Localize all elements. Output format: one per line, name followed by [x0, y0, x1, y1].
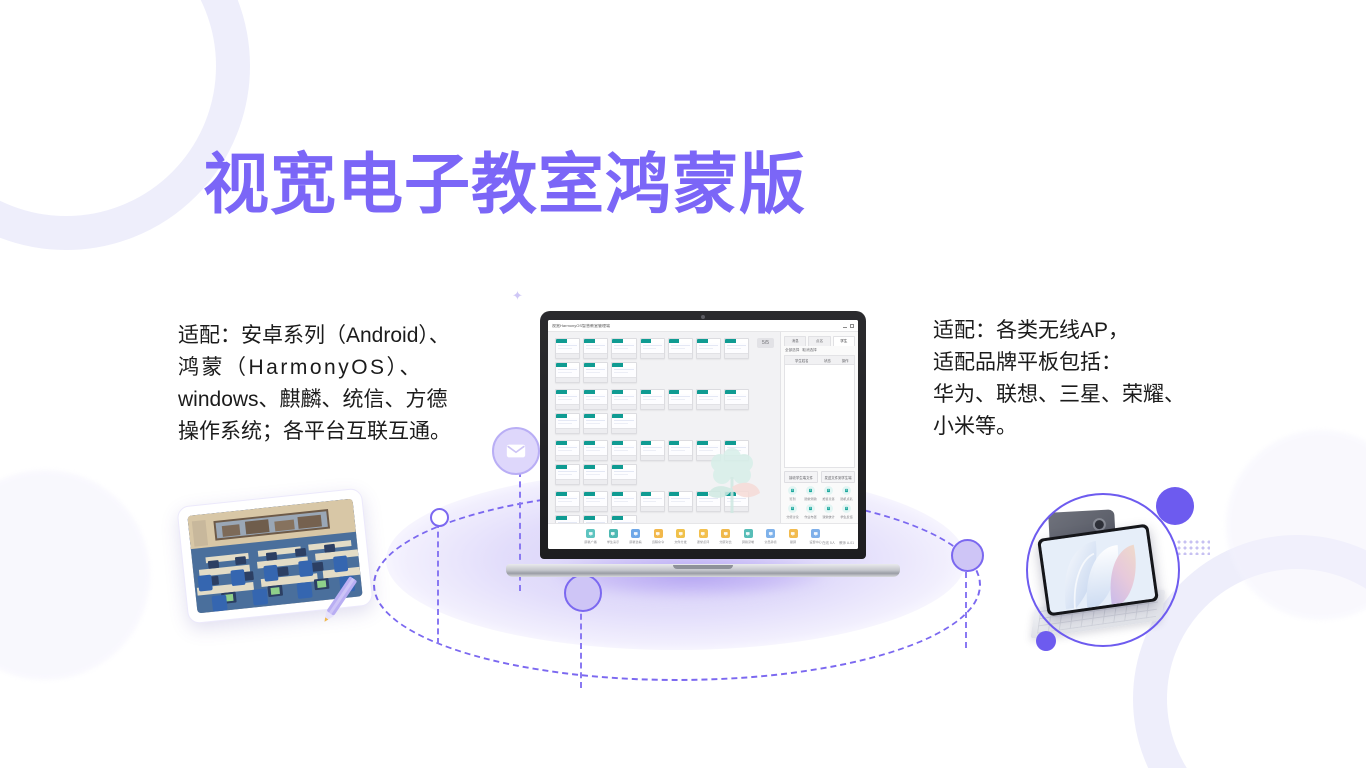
status-online: 在线 5人	[822, 540, 835, 545]
decor-dot-large	[1156, 487, 1194, 525]
student-thumbnail[interactable]	[555, 413, 580, 434]
decor-sparkle-top: ✦	[512, 288, 523, 304]
tool-bubble	[824, 486, 833, 495]
thumbnail-preview	[669, 394, 692, 404]
side-panel-subcontrol-0[interactable]: 全部选择	[785, 348, 799, 353]
thumbnail-caption	[697, 353, 720, 358]
toolbar-label: 全员静音	[764, 539, 776, 544]
thumbnail-preview	[612, 469, 635, 479]
side-panel-tab-0[interactable]: 消息	[784, 336, 806, 346]
student-thumbnail[interactable]	[640, 440, 665, 461]
broadcast-icon	[588, 531, 594, 537]
thumbnail-preview	[669, 445, 692, 455]
thumbnail-preview	[556, 367, 579, 377]
thumbnail-preview	[725, 343, 748, 353]
thumbnail-caption	[556, 455, 579, 460]
toolbar-icon-wrap	[676, 529, 685, 538]
toolbar-icon-wrap	[699, 529, 708, 538]
thumbnail-caption	[641, 404, 664, 409]
student-thumbnail[interactable]	[640, 389, 665, 410]
student-thumbnail[interactable]	[583, 515, 608, 523]
toolbar-label: 屏幕监看	[629, 539, 641, 544]
student-thumbnail[interactable]	[611, 440, 636, 461]
side-panel-subcontrol-1[interactable]: 取消选择	[802, 348, 816, 353]
file-transfer-button-1[interactable]: 发送文件到学生端	[821, 471, 855, 483]
thumbnail-preview	[556, 394, 579, 404]
record-icon	[745, 531, 751, 537]
split-icon	[723, 531, 729, 537]
student-thumbnail[interactable]	[583, 440, 608, 461]
thumbnail-caption	[669, 455, 692, 460]
thumbnail-preview	[641, 496, 664, 506]
tool-label: 抢答竞答	[822, 496, 834, 501]
status-teacher: 教师 A-01	[839, 540, 854, 545]
thumbnail-preview	[584, 367, 607, 377]
toolbar-icon-wrap	[721, 529, 730, 538]
student-thumbnail[interactable]	[724, 338, 749, 359]
thumbnail-preview	[697, 394, 720, 404]
student-thumbnail[interactable]	[668, 491, 693, 512]
thumbnail-caption	[612, 479, 635, 484]
homework-icon	[808, 506, 813, 511]
student-thumbnail[interactable]	[555, 515, 580, 523]
toolbar-icon-wrap	[744, 529, 753, 538]
thumbnail-caption	[584, 377, 607, 382]
laptop-camera	[701, 315, 705, 319]
right-spec-line-3: 华为、联想、三星、荣耀、	[933, 379, 1185, 411]
thumbnail-caption	[556, 404, 579, 409]
toolbar-label: 屏幕广播	[584, 539, 596, 544]
connector-line-center-node	[580, 604, 582, 688]
toolbar-label: 远程命令	[652, 539, 664, 544]
comment-icon	[700, 531, 706, 537]
classroom-app: 视宽HarmonyOS智慧教室管理端 5/5	[548, 320, 858, 549]
thumbnail-caption	[612, 404, 635, 409]
student-thumbnail[interactable]	[668, 440, 693, 461]
student-thumbnail[interactable]	[611, 389, 636, 410]
thumbnail-preview	[612, 367, 635, 377]
thumbnail-preview	[612, 343, 635, 353]
tool-bubble	[824, 504, 833, 513]
app-body: 5/5	[548, 332, 858, 523]
tool-label: 随机点名	[840, 496, 852, 501]
laptop-lid: 视宽HarmonyOS智慧教室管理端 5/5	[540, 311, 866, 559]
toolbar-label: 分屏对比	[719, 539, 731, 544]
laptop-screen: 视宽HarmonyOS智慧教室管理端 5/5	[548, 320, 858, 549]
tool-bubble	[842, 486, 851, 495]
tool-bubble	[806, 504, 815, 513]
file-transfer-button-0[interactable]: 接收学生端文件	[784, 471, 818, 483]
thumbnail-caption	[669, 353, 692, 358]
app-side-panel: 消息点名学生 全部选择取消选择 学生姓名状态操作 接收学生端文件发送文件到学生端…	[780, 332, 858, 523]
left-spec-line-4: 操作系统；各平台互联互通。	[178, 416, 451, 448]
thumbnail-preview	[641, 343, 664, 353]
toolbar-item-lock[interactable]: 锁屏	[785, 529, 802, 544]
window-controls[interactable]	[843, 324, 854, 328]
thumbnail-caption	[612, 506, 635, 511]
thumbnail-caption	[641, 455, 664, 460]
thumbnail-caption	[641, 353, 664, 358]
table-column-header-0: 学生姓名	[785, 356, 819, 364]
connector-line-right-node	[965, 572, 967, 648]
thumbnail-caption	[556, 353, 579, 358]
app-titlebar: 视宽HarmonyOS智慧教室管理端	[548, 320, 858, 332]
command-icon	[655, 531, 661, 537]
student-thumbnail[interactable]	[555, 389, 580, 410]
minimize-icon[interactable]	[843, 327, 847, 328]
thumbnail-caption	[584, 428, 607, 433]
toolbar-item-present[interactable]: 学生演示	[605, 529, 622, 544]
thumbnail-preview	[584, 469, 607, 479]
lock-icon	[790, 531, 796, 537]
side-panel-subcontrols[interactable]: 全部选择取消选择	[784, 346, 855, 355]
random-icon	[844, 488, 849, 493]
toolbar-item-mute[interactable]: 全员静音	[762, 529, 779, 544]
thumbnail-caption	[556, 479, 579, 484]
toolbar-icon-wrap	[811, 529, 820, 538]
right-spec-text: 适配：各类无线AP， 适配品牌平板包括： 华为、联想、三星、荣耀、 小米等。	[933, 315, 1185, 443]
student-thumbnail[interactable]	[611, 338, 636, 359]
left-spec-text: 适配：安卓系列（Android）、 鸿蒙（HarmonyOS）、 windows…	[178, 320, 451, 448]
thumbnail-preview	[584, 394, 607, 404]
chart-icon	[826, 506, 831, 511]
decor-wash-left	[0, 470, 150, 680]
close-icon[interactable]	[850, 324, 854, 328]
thumbnail-preview	[556, 469, 579, 479]
laptop-base	[506, 564, 900, 577]
laptop-notch	[673, 565, 733, 569]
thumbnail-caption	[556, 506, 579, 511]
monitor-icon	[633, 531, 639, 537]
thumbnail-caption	[556, 377, 579, 382]
toolbar-label: 设置中心	[809, 539, 821, 544]
teaching-tools-grid[interactable]: 签到随堂测验抢答竞答随机点名分组讨论作业布置课堂统计学生反馈	[784, 486, 855, 519]
thumbnail-preview	[584, 445, 607, 455]
count-badge: 5/5	[757, 338, 774, 348]
orbit-node-right	[951, 539, 984, 572]
orbit-node-center	[564, 574, 602, 612]
side-panel-tabs[interactable]: 消息点名学生	[784, 336, 855, 346]
toolbar-icon-wrap	[586, 529, 595, 538]
teaching-tool-buzzer[interactable]: 抢答竞答	[820, 486, 837, 501]
student-thumbnail[interactable]	[696, 389, 721, 410]
tool-bubble	[806, 486, 815, 495]
thumbnail-preview	[556, 445, 579, 455]
tool-label: 随堂测验	[804, 496, 816, 501]
tool-label: 学生反馈	[840, 514, 852, 519]
thumbnail-preview	[612, 418, 635, 428]
thumbnail-caption	[641, 506, 664, 511]
toolbar-label: 屏幕录制	[742, 539, 754, 544]
student-thumbnail[interactable]	[696, 338, 721, 359]
tool-label: 签到	[789, 496, 795, 501]
toolbar-item-file-send[interactable]: 文件分发	[672, 529, 689, 544]
toolbar-icon-wrap	[789, 529, 798, 538]
teaching-tool-group[interactable]: 分组讨论	[784, 504, 801, 519]
student-thumbnail[interactable]	[555, 440, 580, 461]
left-spec-line-1: 适配：安卓系列（Android）、	[178, 320, 451, 352]
thumbnail-caption	[556, 428, 579, 433]
thumbnail-preview	[669, 496, 692, 506]
student-thumbnail[interactable]	[555, 338, 580, 359]
toolbar-icon-wrap	[766, 529, 775, 538]
table-column-header-1: 状态	[819, 356, 837, 364]
toolbar-label: 锁屏	[790, 539, 796, 544]
file-transfer-buttons[interactable]: 接收学生端文件发送文件到学生端	[784, 471, 855, 483]
side-panel-tab-2[interactable]: 学生	[833, 336, 855, 346]
teaching-tool-quiz[interactable]: 随堂测验	[802, 486, 819, 501]
toolbar-icon-wrap	[654, 529, 663, 538]
thumbnail-preview	[612, 394, 635, 404]
thumbnail-caption	[584, 353, 607, 358]
student-thumbnail[interactable]	[583, 491, 608, 512]
toolbar-label: 课堂点评	[697, 539, 709, 544]
thumbnail-preview	[612, 445, 635, 455]
toolbar-item-comment[interactable]: 课堂点评	[695, 529, 712, 544]
toolbar-item-broadcast[interactable]: 屏幕广播	[582, 529, 599, 544]
decor-ring	[1026, 493, 1180, 647]
flower-watermark-icon	[700, 443, 764, 515]
thumbnail-caption	[584, 455, 607, 460]
thumbnail-caption	[669, 404, 692, 409]
student-thumbnail[interactable]	[583, 464, 608, 485]
connector-line-left-node	[437, 522, 439, 644]
app-bottom-toolbar[interactable]: 屏幕广播学生演示屏幕监看远程命令文件分发课堂点评分屏对比屏幕录制全员静音锁屏设置…	[548, 523, 858, 549]
thumbnail-caption	[725, 404, 748, 409]
left-spec-line-2: 鸿蒙（HarmonyOS）、	[178, 352, 451, 384]
thumbnail-caption	[612, 428, 635, 433]
thumbnail-preview	[584, 343, 607, 353]
toolbar-item-split[interactable]: 分屏对比	[717, 529, 734, 544]
toolbar-item-record[interactable]: 屏幕录制	[740, 529, 757, 544]
student-thumbnail[interactable]	[640, 338, 665, 359]
thumbnail-preview	[641, 394, 664, 404]
side-panel-tab-1[interactable]: 点名	[808, 336, 830, 346]
thumbnail-caption	[697, 404, 720, 409]
file-send-icon	[678, 531, 684, 537]
toolbar-item-command[interactable]: 远程命令	[650, 529, 667, 544]
mute-icon	[768, 531, 774, 537]
tool-bubble	[842, 504, 851, 513]
check-icon	[790, 488, 795, 493]
thumbnail-preview	[556, 418, 579, 428]
left-spec-line-3: windows、麒麟、统信、方德	[178, 384, 451, 416]
toolbar-icon-wrap	[631, 529, 640, 538]
student-table-header: 学生姓名状态操作	[784, 355, 855, 365]
right-spec-line-2: 适配品牌平板包括：	[933, 347, 1185, 379]
student-thumbnail[interactable]	[583, 389, 608, 410]
thumbnail-caption	[584, 479, 607, 484]
thumbnail-preview	[725, 394, 748, 404]
decor-dot-small	[1036, 631, 1056, 651]
teaching-tool-random[interactable]: 随机点名	[838, 486, 855, 501]
feedback-icon	[844, 506, 849, 511]
app-window-title: 视宽HarmonyOS智慧教室管理端	[552, 323, 610, 328]
student-grid-pane: 5/5	[548, 332, 780, 523]
student-thumbnail[interactable]	[668, 338, 693, 359]
thumbnail-caption	[669, 506, 692, 511]
group-icon	[790, 506, 795, 511]
thumbnail-caption	[612, 353, 635, 358]
toolbar-icon-wrap	[609, 529, 618, 538]
toolbar-status: 在线 5人 教师 A-01	[822, 540, 854, 545]
thumbnail-caption	[584, 404, 607, 409]
thumbnail-preview	[584, 418, 607, 428]
table-column-header-2: 操作	[836, 356, 854, 364]
student-thumbnail[interactable]	[583, 338, 608, 359]
student-thumbnail[interactable]	[611, 413, 636, 434]
student-thumbnail[interactable]	[611, 491, 636, 512]
quiz-icon	[808, 488, 813, 493]
teaching-tool-check[interactable]: 签到	[784, 486, 801, 501]
student-thumbnail[interactable]	[640, 491, 665, 512]
thumbnail-preview	[669, 343, 692, 353]
thumbnail-caption	[725, 353, 748, 358]
settings-icon	[813, 531, 819, 537]
laptop-mockup: 视宽HarmonyOS智慧教室管理端 5/5	[506, 311, 900, 577]
thumbnail-caption	[612, 455, 635, 460]
toolbar-items[interactable]: 屏幕广播学生演示屏幕监看远程命令文件分发课堂点评分屏对比屏幕录制全员静音锁屏设置…	[582, 529, 824, 544]
student-thumbnail[interactable]	[668, 389, 693, 410]
tool-label: 作业布置	[804, 514, 816, 519]
thumbnail-preview	[584, 496, 607, 506]
tablet-mockup-group	[1012, 487, 1208, 655]
thumbnail-preview	[641, 445, 664, 455]
toolbar-item-monitor[interactable]: 屏幕监看	[627, 529, 644, 544]
student-thumbnail[interactable]	[611, 515, 636, 523]
thumbnail-preview	[697, 343, 720, 353]
right-spec-line-1: 适配：各类无线AP，	[933, 315, 1185, 347]
right-spec-line-4: 小米等。	[933, 411, 1185, 443]
thumbnail-caption	[612, 377, 635, 382]
decor-dot-grid	[1176, 539, 1210, 555]
student-thumbnail[interactable]	[555, 362, 580, 383]
student-thumbnail[interactable]	[724, 389, 749, 410]
teaching-tool-chart[interactable]: 课堂统计	[820, 504, 837, 519]
teaching-tool-homework[interactable]: 作业布置	[802, 504, 819, 519]
toolbar-label: 学生演示	[607, 539, 619, 544]
orbit-node-left	[430, 508, 449, 527]
toolbar-label: 文件分发	[674, 539, 686, 544]
present-icon	[610, 531, 616, 537]
thumbnail-preview	[612, 496, 635, 506]
tool-bubble	[788, 486, 797, 495]
thumbnail-caption	[584, 506, 607, 511]
thumbnail-preview	[556, 343, 579, 353]
thumbnail-preview	[556, 496, 579, 506]
tool-label: 分组讨论	[786, 514, 798, 519]
teaching-tool-feedback[interactable]: 学生反馈	[838, 504, 855, 519]
page-title: 视宽电子教室鸿蒙版	[203, 152, 806, 218]
student-table-body[interactable]	[784, 365, 855, 468]
student-thumbnail[interactable]	[611, 362, 636, 383]
student-thumbnail[interactable]	[555, 491, 580, 512]
student-thumbnail[interactable]	[583, 413, 608, 434]
slide-canvas: ✦ ✦ 视宽电子教室鸿蒙版 适配：安卓系列（Android）、 鸿蒙（Harmo…	[0, 0, 1366, 768]
student-thumbnail[interactable]	[583, 362, 608, 383]
buzzer-icon	[826, 488, 831, 493]
tool-label: 课堂统计	[822, 514, 834, 519]
student-thumbnail[interactable]	[611, 464, 636, 485]
tool-bubble	[788, 504, 797, 513]
student-thumbnail[interactable]	[555, 464, 580, 485]
